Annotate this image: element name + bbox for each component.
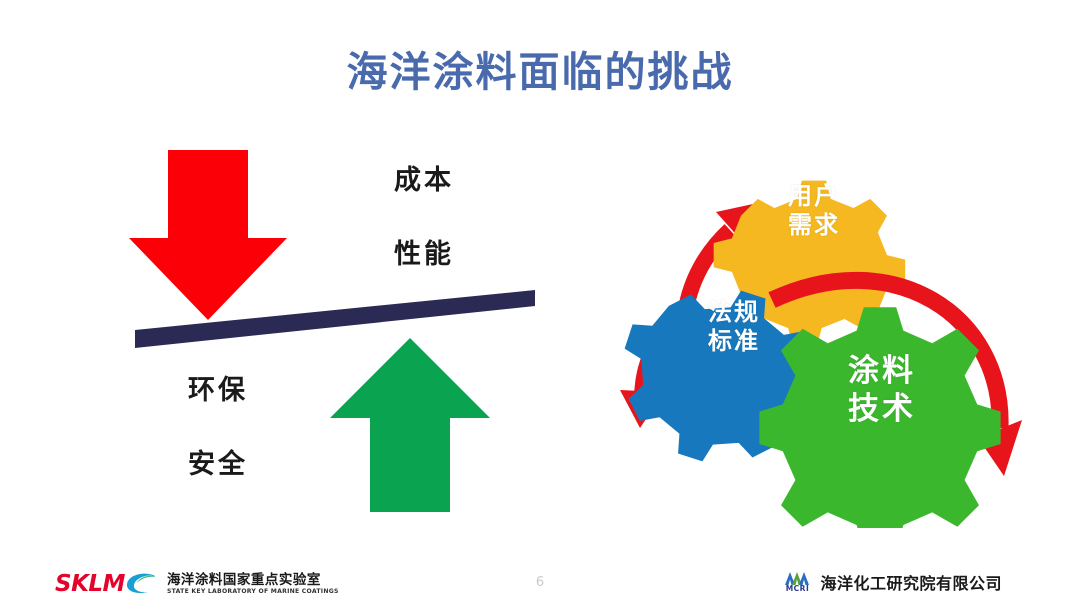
slide-footer: SKLM 海洋涂料国家重点实验室 STATE KEY LABORATORY OF… <box>0 550 1080 608</box>
gear-label-line1: 用户 <box>754 182 874 211</box>
mcri-logo: MCRI 海洋化工研究院有限公司 <box>780 570 1002 594</box>
balance-diagram: 成本 性能 环保 安全 <box>110 140 570 520</box>
label-safety: 安全 <box>188 451 248 478</box>
gear-label-regulation: 法规 标准 <box>674 298 794 357</box>
mcri-mark: MCRI <box>780 571 814 593</box>
gear-label-line2: 需求 <box>754 211 874 240</box>
label-environment: 环保 <box>188 377 248 404</box>
label-performance: 性能 <box>394 241 454 268</box>
presentation-slide: 海洋涂料面临的挑战 成本 性能 环保 安全 <box>0 0 1080 608</box>
gear-label-line2: 技术 <box>812 391 952 429</box>
down-arrow-icon <box>129 150 287 320</box>
gear-label-user-demand: 用户 需求 <box>754 182 874 241</box>
gear-label-line2: 标准 <box>674 327 794 356</box>
up-arrow-icon <box>330 338 490 512</box>
page-title: 海洋涂料面临的挑战 <box>0 48 1080 97</box>
mcri-chinese-name: 海洋化工研究院有限公司 <box>820 570 1002 594</box>
mcri-letters: MCRI <box>786 585 810 593</box>
gear-label-line1: 涂料 <box>812 353 952 391</box>
label-cost: 成本 <box>394 167 454 194</box>
gear-label-technology: 涂料 技术 <box>812 353 952 429</box>
gear-diagram: 用户 需求 法规 标准 涂料 技术 <box>612 138 1032 528</box>
gear-label-line1: 法规 <box>674 298 794 327</box>
balance-graphic <box>110 140 570 520</box>
